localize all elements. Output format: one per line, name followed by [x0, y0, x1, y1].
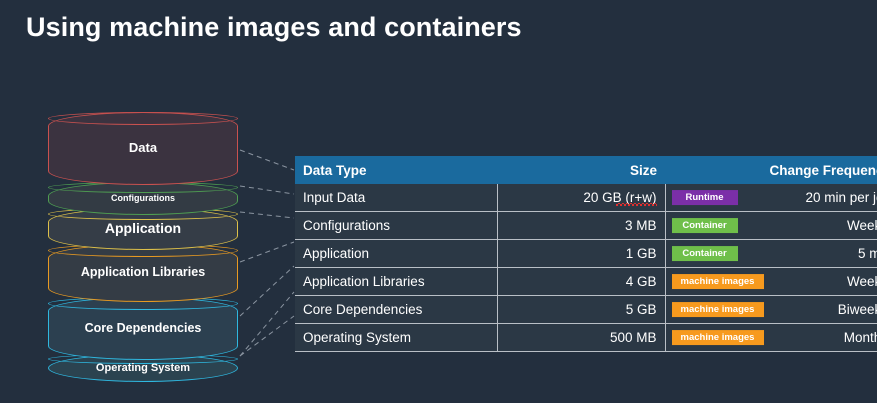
cell-data-type: Configurations	[295, 212, 497, 240]
stack-layer-label: Application Libraries	[81, 266, 205, 280]
cell-data-type: Application	[295, 240, 497, 268]
table-row[interactable]: Configurations 3 MB Container Weekly	[295, 212, 877, 240]
stack-layer-label: Core Dependencies	[85, 322, 202, 336]
stack-layer-data[interactable]: Data	[48, 112, 238, 185]
column-header-size[interactable]: Size	[497, 156, 665, 184]
column-header-change-frequency[interactable]: Change Frequency	[665, 156, 877, 184]
size-value: 3 MB	[625, 218, 657, 233]
column-header-data-type[interactable]: Data Type	[295, 156, 497, 184]
status-badge[interactable]: machine images	[672, 330, 764, 346]
stack-layer-configurations[interactable]: Configurations	[48, 182, 238, 215]
cell-size: 500 MB	[497, 324, 665, 352]
stack-layer-label: Data	[129, 141, 157, 155]
size-value: 500 MB	[610, 330, 657, 345]
cylinder-top-cap-icon	[48, 112, 238, 125]
slide-canvas: Using machine images and containers Oper…	[0, 0, 877, 403]
cell-size: 1 GB	[497, 240, 665, 268]
table-row[interactable]: Input Data 20 GB (r+w) Runtime 20 min pe…	[295, 184, 877, 212]
change-frequency-value: Monthly	[844, 330, 877, 345]
size-value-wrapper: 20 GB (r+w)	[583, 190, 656, 205]
change-frequency-value: Weekly	[847, 274, 877, 289]
cell-size: 3 MB	[497, 212, 665, 240]
status-badge[interactable]: Container	[672, 218, 738, 234]
stack-layer-application-libraries[interactable]: Application Libraries	[48, 244, 238, 302]
cell-size: 4 GB	[497, 268, 665, 296]
status-badge[interactable]: Container	[672, 246, 738, 262]
size-value: 1 GB	[626, 246, 657, 261]
data-table: Data Type Size Change Frequency Input Da…	[295, 156, 877, 352]
change-frequency-value: Biweekly	[838, 302, 877, 317]
size-value-wrapper: 4 GB	[626, 274, 657, 289]
cell-change-frequency: Container Weekly	[665, 212, 877, 240]
size-value: 5 GB	[626, 302, 657, 317]
table-header-row: Data Type Size Change Frequency	[295, 156, 877, 184]
table-body: Input Data 20 GB (r+w) Runtime 20 min pe…	[295, 184, 877, 352]
size-value: 4 GB	[626, 274, 657, 289]
stack-layer-label: Operating System	[96, 362, 190, 374]
cell-data-type: Core Dependencies	[295, 296, 497, 324]
cell-data-type: Input Data	[295, 184, 497, 212]
cell-change-frequency: machine images Monthly	[665, 324, 877, 352]
stack-layer-core-dependencies[interactable]: Core Dependencies	[48, 297, 238, 360]
cell-size: 5 GB	[497, 296, 665, 324]
cell-change-frequency: machine images Weekly	[665, 268, 877, 296]
change-frequency-value: 20 min per job	[805, 190, 877, 205]
stack-layer-label: Application	[105, 221, 181, 236]
page-title: Using machine images and containers	[26, 12, 522, 43]
stack-layer-label: Configurations	[111, 194, 175, 204]
layer-stack-diagram: Operating System Core Dependencies Appli…	[48, 112, 238, 372]
size-value-wrapper: 3 MB	[625, 218, 657, 233]
status-badge[interactable]: machine images	[672, 274, 764, 290]
status-badge[interactable]: Runtime	[672, 190, 738, 206]
status-badge[interactable]: machine images	[672, 302, 764, 318]
change-frequency-value: Weekly	[847, 218, 877, 233]
size-value-wrapper: 500 MB	[610, 330, 657, 345]
size-value-wrapper: 5 GB	[626, 302, 657, 317]
cell-size: 20 GB (r+w)	[497, 184, 665, 212]
cell-data-type: Application Libraries	[295, 268, 497, 296]
cell-change-frequency: machine images Biweekly	[665, 296, 877, 324]
cell-change-frequency: Container 5 min	[665, 240, 877, 268]
table-header: Data Type Size Change Frequency	[295, 156, 877, 184]
table-row[interactable]: Application 1 GB Container 5 min	[295, 240, 877, 268]
cell-change-frequency: Runtime 20 min per job	[665, 184, 877, 212]
spellcheck-squiggle-icon	[616, 203, 657, 207]
cell-data-type: Operating System	[295, 324, 497, 352]
size-value-wrapper: 1 GB	[626, 246, 657, 261]
table-row[interactable]: Application Libraries 4 GB machine image…	[295, 268, 877, 296]
table-row[interactable]: Core Dependencies 5 GB machine images Bi…	[295, 296, 877, 324]
change-frequency-value: 5 min	[858, 246, 877, 261]
table-row[interactable]: Operating System 500 MB machine images M…	[295, 324, 877, 352]
data-table-container: Data Type Size Change Frequency Input Da…	[295, 156, 851, 352]
